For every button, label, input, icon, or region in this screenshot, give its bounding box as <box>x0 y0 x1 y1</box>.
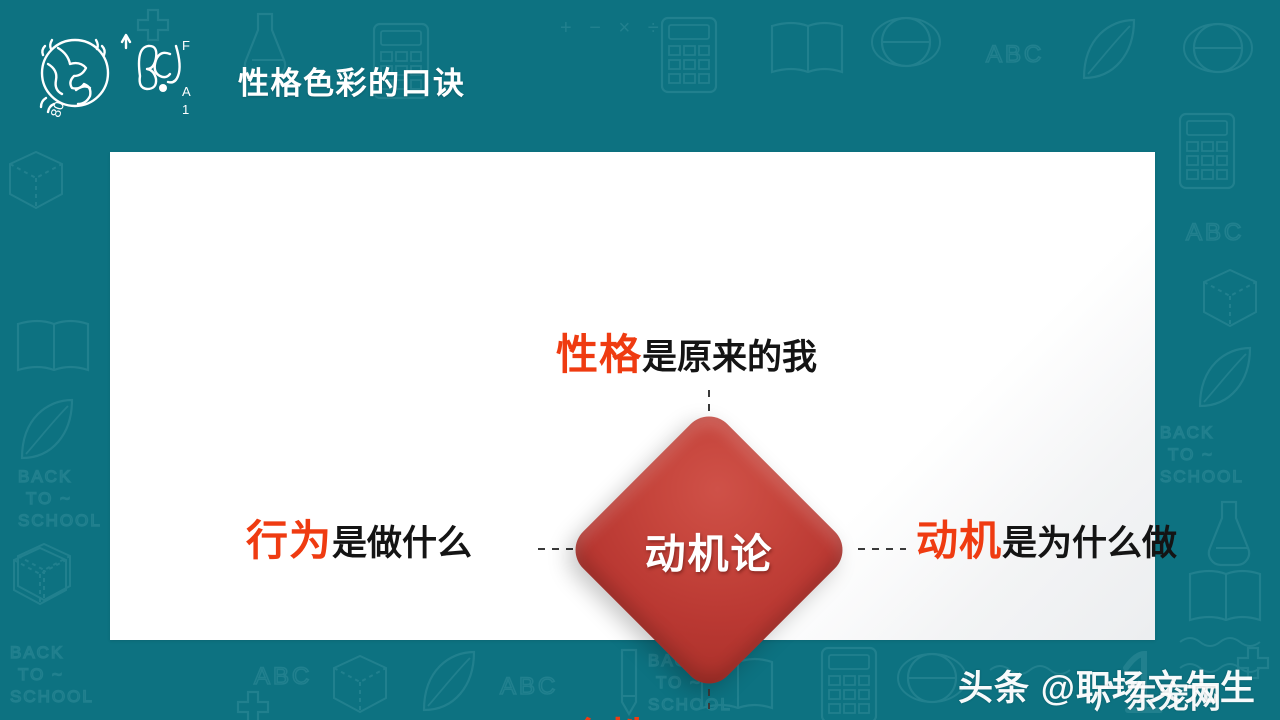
node-right-rest: 是为什么做 <box>1002 524 1177 563</box>
node-label-left: 行为是做什么 <box>246 520 472 562</box>
node-right-accent: 动机 <box>916 517 1002 564</box>
svg-text:A: A <box>182 84 191 99</box>
node-top-accent: 性格 <box>556 331 642 378</box>
diagram-card: 动机论 性格是原来的我 动机是为什么做 个性是现在的我 行为是做什么 <box>110 152 1155 640</box>
slide-canvas: BACK TO ~ SCHOOL ABC + − × ÷ <box>0 0 1280 720</box>
slide-header: F A 1 80 性格色彩的口诀 <box>0 0 1280 150</box>
watermark-site: 广东宠网 <box>1094 672 1222 717</box>
connector-line-right <box>858 548 906 550</box>
diamond-label: 动机论 <box>583 424 835 676</box>
center-diamond: 动机论 <box>583 424 835 676</box>
node-left-accent: 行为 <box>246 517 332 564</box>
node-bottom-accent: 个性 <box>566 715 652 720</box>
node-left-rest: 是做什么 <box>332 524 472 563</box>
logo-globe-abc-icon: F A 1 80 <box>30 28 225 118</box>
svg-text:80: 80 <box>47 99 67 118</box>
svg-text:F: F <box>182 38 190 53</box>
node-top-rest: 是原来的我 <box>642 338 817 377</box>
node-label-right: 动机是为什么做 <box>916 520 1177 562</box>
node-label-top: 性格是原来的我 <box>556 334 817 376</box>
page-title: 性格色彩的口诀 <box>238 58 466 103</box>
svg-text:1: 1 <box>182 102 189 117</box>
